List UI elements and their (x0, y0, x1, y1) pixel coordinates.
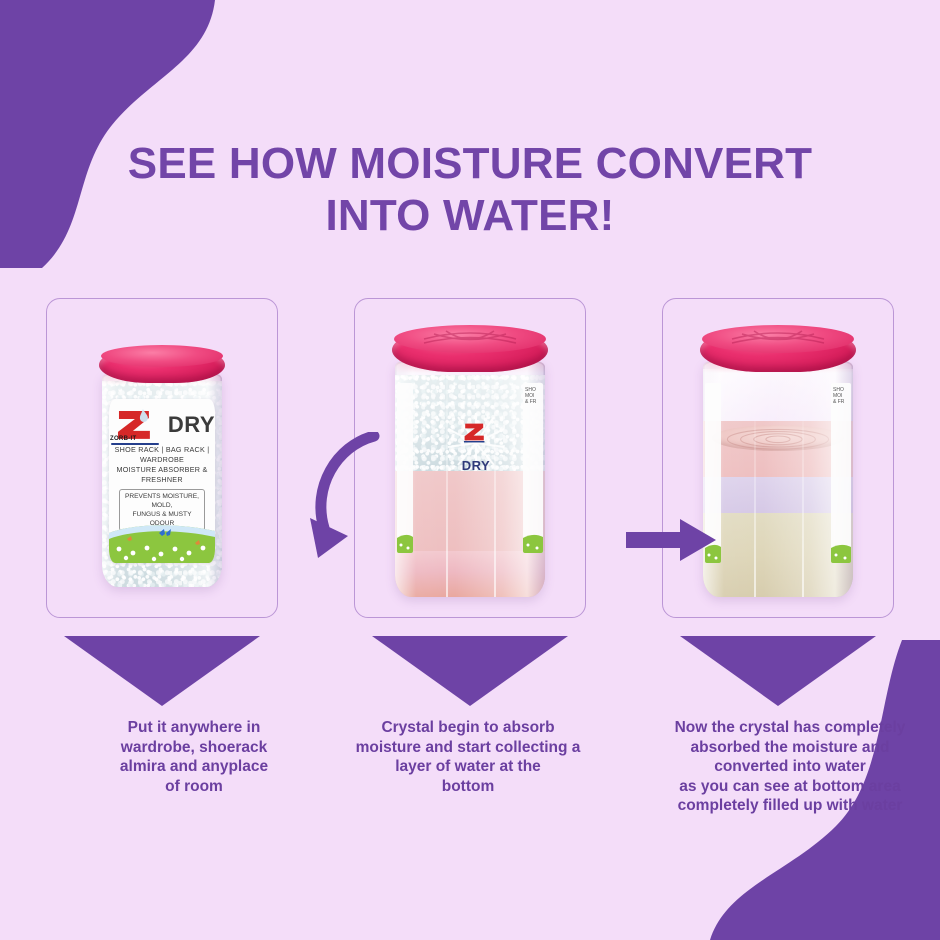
step-card-1: ZORB-IT DRY SHOE RACK | BAG RACK | WARDR… (46, 298, 278, 618)
caption-line: Crystal begin to absorb (318, 718, 618, 738)
label-claim-line-1: PREVENTS MOISTURE, MOLD, (122, 492, 202, 510)
jar-partition-right-3 (802, 421, 804, 597)
product-label-1: ZORB-IT DRY SHOE RACK | BAG RACK | WARDR… (109, 399, 215, 563)
meadow-illustration-icon-3 (523, 531, 543, 553)
label-logo-row-1: ZORB-IT DRY (109, 405, 215, 445)
label-variant-text: DRY (168, 412, 215, 438)
caption-line: converted into water (640, 757, 940, 777)
steps-row: ZORB-IT DRY SHOE RACK | BAG RACK | WARDR… (0, 298, 940, 618)
perforated-tray-3 (712, 425, 844, 451)
step-caption-2: Crystal begin to absorb moisture and sta… (318, 718, 618, 796)
meadow-illustration-icon-5 (831, 541, 851, 563)
side-label-left-2 (397, 383, 413, 553)
product-jar-step-2: DRY SHOMOI& FR (364, 311, 576, 611)
label-function-line: MOISTURE ABSORBER & FRESHNER (109, 465, 215, 485)
caption-line: layer of water at the (318, 757, 618, 777)
step-caption-3: Now the crystal has completely absorbed … (640, 718, 940, 816)
product-label-2: DRY (446, 413, 506, 471)
label-usage-line: SHOE RACK | BAG RACK | WARDROBE (109, 445, 215, 465)
step-caption-1: Put it anywhere in wardrobe, shoerack al… (44, 718, 344, 796)
side-label-text-2: SHOMOI& FR (525, 387, 536, 405)
step-card-3: SHOMOI& FR (662, 298, 894, 618)
title-line-1: SEE HOW MOISTURE CONVERT (0, 138, 940, 190)
jar-partition-left-3 (754, 421, 756, 597)
label-brand-text: ZORB-IT (110, 436, 136, 442)
jar-lid-top-3 (702, 325, 854, 353)
meadow-illustration-icon-2 (397, 531, 413, 553)
side-label-right-2: SHOMOI& FR (523, 383, 543, 553)
zorbit-logo-icon-2 (458, 419, 494, 445)
product-jar-step-1: ZORB-IT DRY SHOE RACK | BAG RACK | WARDR… (62, 329, 262, 609)
jar-partition-left-2 (446, 361, 448, 597)
meadow-illustration-icon-4 (705, 541, 721, 563)
tray-perforation-icon (712, 425, 844, 451)
side-label-right-3: SHOMOI& FR (831, 383, 851, 563)
down-arrow-icon-1 (64, 636, 260, 706)
logo-underline (111, 443, 159, 445)
lid-vent-holes-icon-2 (702, 325, 854, 353)
title-line-2: INTO WATER! (0, 190, 940, 242)
caption-line: absorbed the moisture and (640, 738, 940, 758)
infographic-canvas: SEE HOW MOISTURE CONVERT INTO WATER! (0, 0, 940, 940)
label-variant-text-2: DRY (446, 458, 506, 473)
caption-line: Now the crystal has completely (640, 718, 940, 738)
jar-partition-right-2 (494, 361, 496, 597)
zorbit-logo-icon: ZORB-IT (109, 405, 163, 445)
caption-line: as you can see at bottom area (640, 777, 940, 797)
caption-line: wardrobe, shoerack (44, 738, 344, 758)
caption-line: bottom (318, 777, 618, 797)
page-title: SEE HOW MOISTURE CONVERT INTO WATER! (0, 138, 940, 242)
lid-vent-holes-icon (394, 325, 546, 353)
water-layer-bottom-2 (395, 551, 545, 597)
product-jar-step-3: SHOMOI& FR (672, 311, 884, 611)
caption-line: of room (44, 777, 344, 797)
caption-line: moisture and start collecting a (318, 738, 618, 758)
caption-line: almira and anyplace (44, 757, 344, 777)
step-card-2: DRY SHOMOI& FR (354, 298, 586, 618)
jar-body-3: SHOMOI& FR (703, 361, 853, 597)
jar-lid-top-2 (394, 325, 546, 353)
side-label-text-3: SHOMOI& FR (833, 387, 844, 405)
jar-body-2: DRY SHOMOI& FR (395, 361, 545, 597)
down-arrow-icon-3 (680, 636, 876, 706)
jar-body-1: ZORB-IT DRY SHOE RACK | BAG RACK | WARDR… (102, 373, 222, 587)
caption-line: Put it anywhere in (44, 718, 344, 738)
jar-lid-top-1 (101, 345, 223, 367)
caption-line: completely filled up with water (640, 796, 940, 816)
side-label-left-3 (705, 383, 721, 563)
meadow-illustration-icon (109, 517, 215, 563)
down-arrow-icon-2 (372, 636, 568, 706)
